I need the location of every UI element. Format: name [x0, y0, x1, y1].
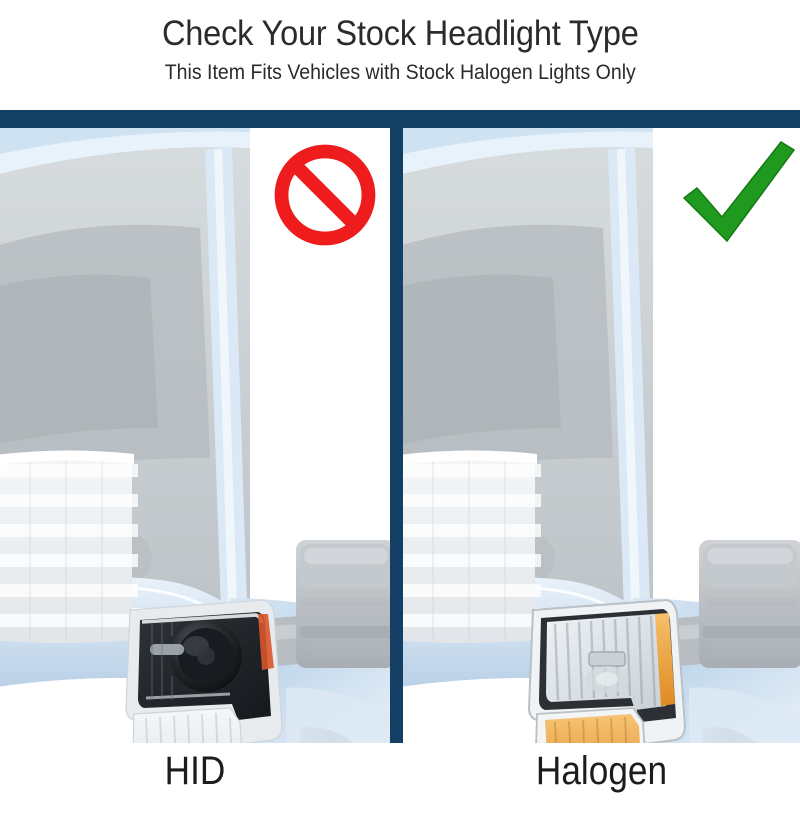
page-title: Check Your Stock Headlight Type — [162, 16, 639, 53]
headlight-halogen — [529, 600, 685, 743]
panel-halogen — [403, 128, 800, 743]
page-subtitle: This Item Fits Vehicles with Stock Halog… — [164, 61, 635, 85]
headlight-type-comparison-graphic: Check Your Stock Headlight Type This Ite… — [0, 0, 800, 819]
label-halogen: Halogen — [427, 749, 776, 794]
panel-labels: HID Halogen — [0, 743, 800, 819]
prohibition-icon — [272, 142, 378, 248]
panel-divider — [390, 110, 403, 743]
checkmark-icon — [681, 140, 796, 244]
panel-hid — [0, 128, 390, 743]
headlight-hid — [126, 600, 282, 743]
header: Check Your Stock Headlight Type This Ite… — [0, 0, 800, 110]
label-hid: HID — [23, 749, 366, 794]
